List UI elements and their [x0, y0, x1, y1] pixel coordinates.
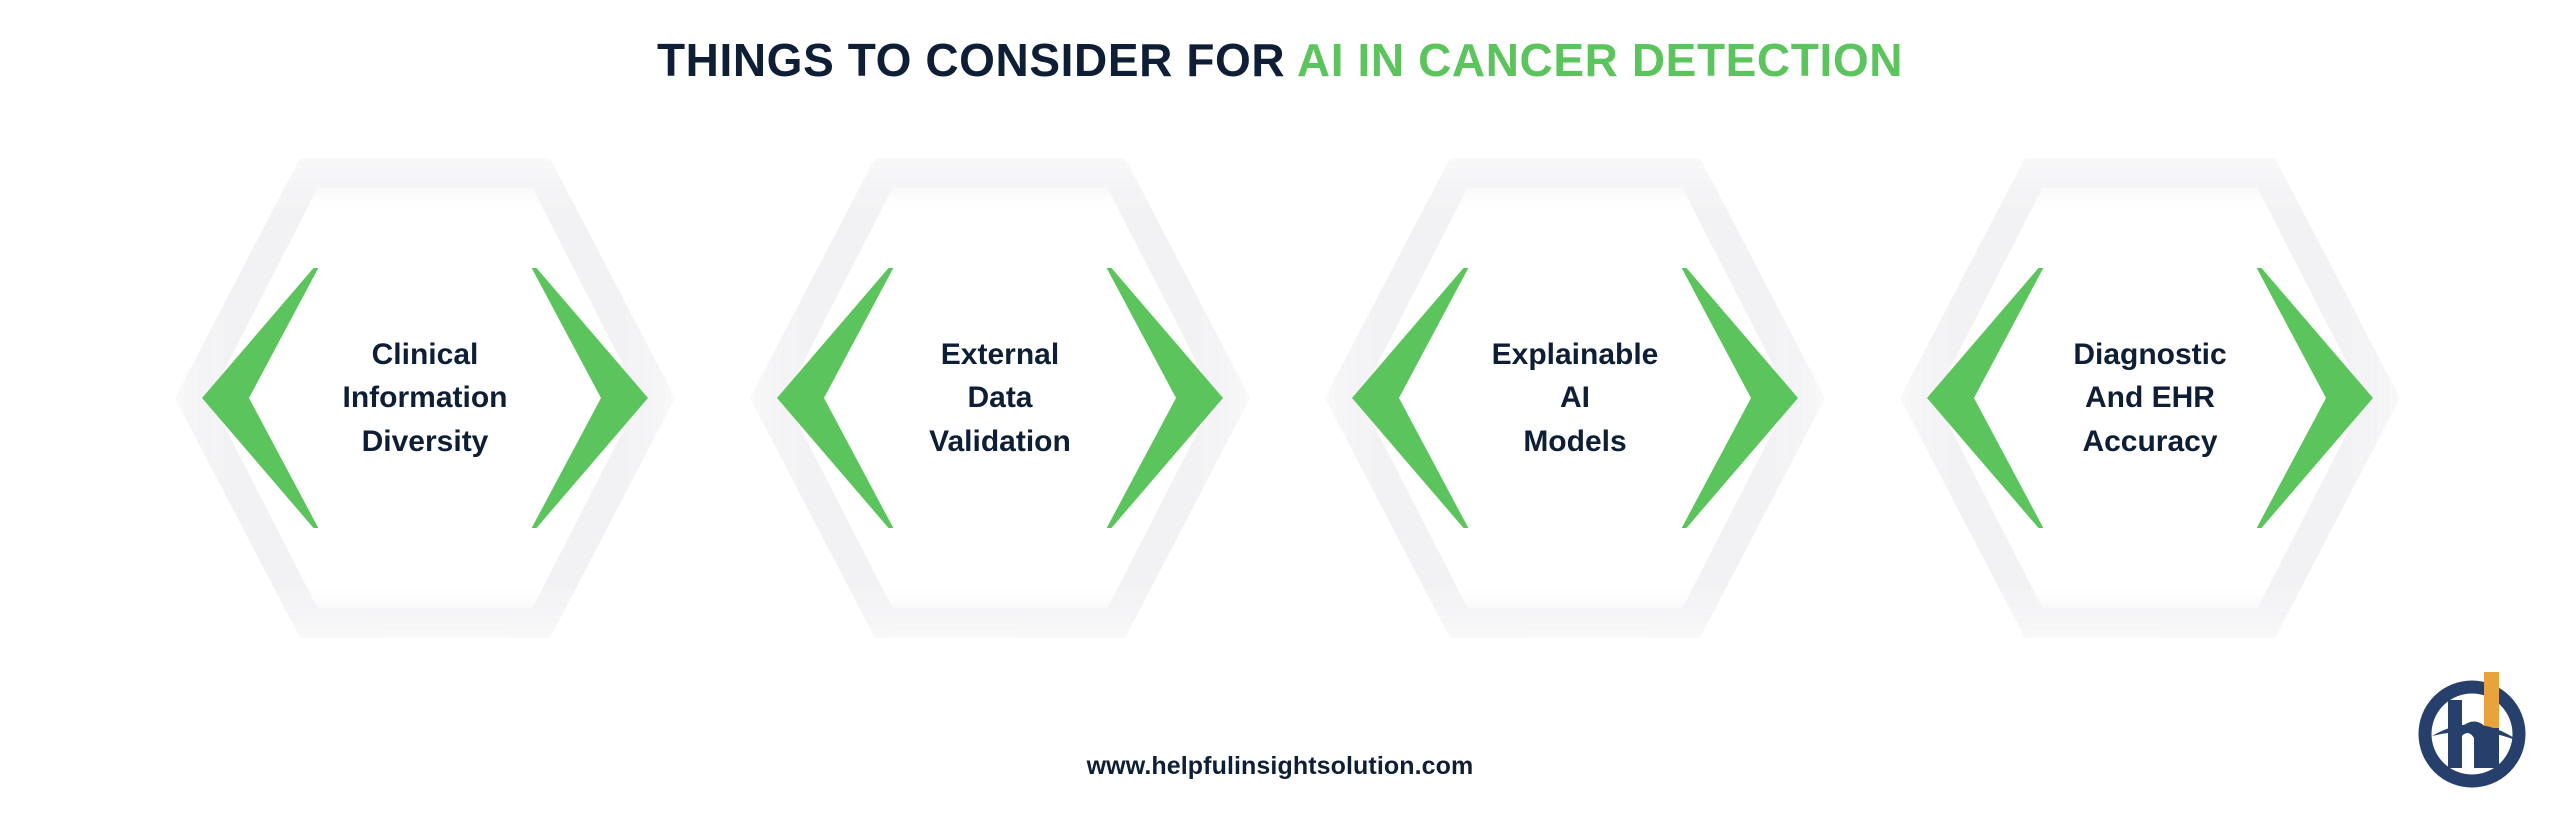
- page-title-dark-part: THINGS TO CONSIDER FOR: [657, 34, 1297, 86]
- hexagon-label: Diagnostic And EHR Accuracy: [2059, 333, 2240, 464]
- hexagon-card-diagnostic-and-ehr-accuracy[interactable]: Diagnostic And EHR Accuracy: [1860, 138, 2440, 658]
- hexagon-label: Explainable AI Models: [1478, 333, 1673, 464]
- header: THINGS TO CONSIDER FOR AI IN CANCER DETE…: [0, 0, 2560, 120]
- hexagon-row: Clinical Information Diversity External …: [0, 138, 2560, 658]
- hexagon-card-explainable-ai-models[interactable]: Explainable AI Models: [1285, 138, 1865, 658]
- hexagon-card-clinical-information-diversity[interactable]: Clinical Information Diversity: [135, 138, 715, 658]
- page-title: THINGS TO CONSIDER FOR AI IN CANCER DETE…: [657, 37, 1903, 83]
- brand-logo-icon: [2414, 662, 2534, 792]
- hexagon-label: Clinical Information Diversity: [329, 333, 522, 464]
- hexagon-label: External Data Validation: [915, 333, 1085, 464]
- hexagon-card-external-data-validation[interactable]: External Data Validation: [710, 138, 1290, 658]
- footer-website-url[interactable]: www.helpfulinsightsolution.com: [0, 752, 2560, 781]
- page-title-green-part: AI IN CANCER DETECTION: [1297, 34, 1903, 86]
